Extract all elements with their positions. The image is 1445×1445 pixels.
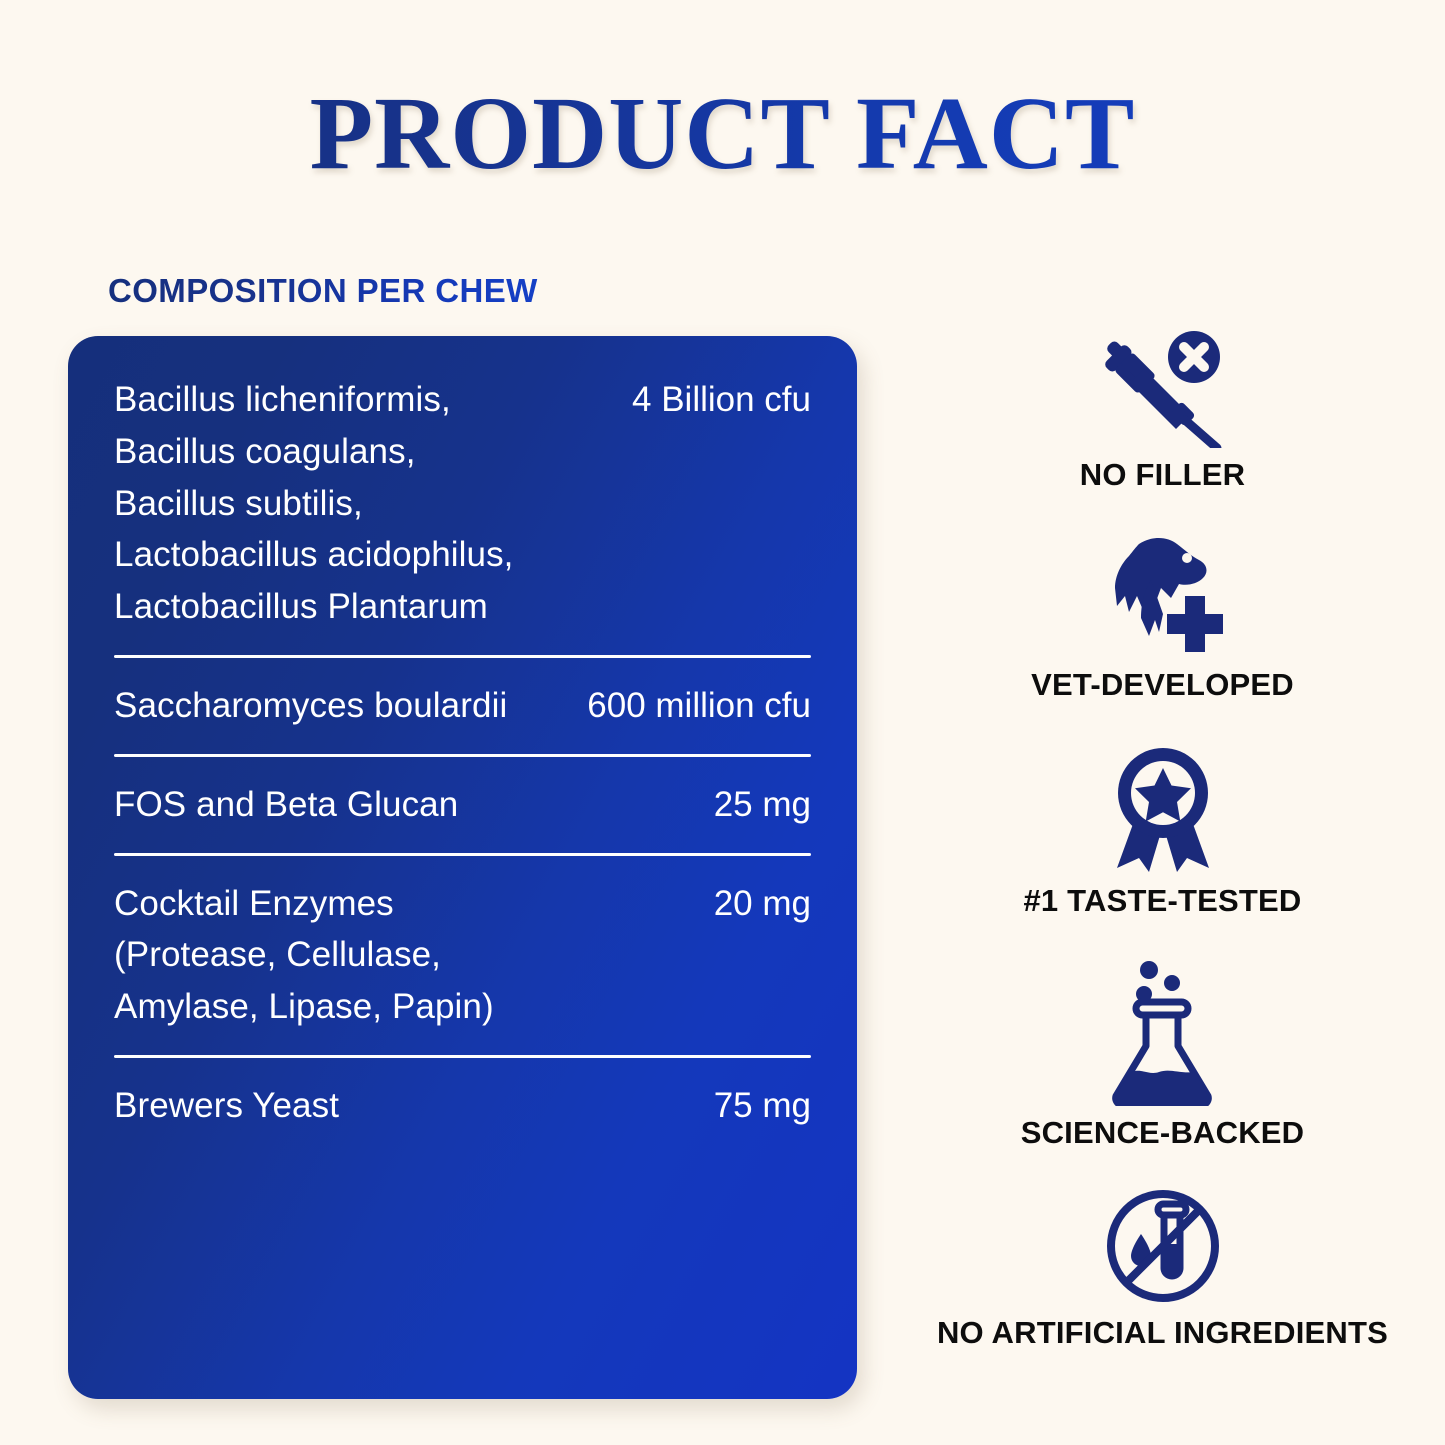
row-divider xyxy=(114,1055,811,1058)
ingredient-name: Bacillus licheniformis, Bacillus coagula… xyxy=(114,374,544,633)
table-row: Saccharomyces boulardii 600 million cfu xyxy=(114,680,811,732)
table-row: Cocktail Enzymes (Protease, Cellulase, A… xyxy=(114,878,811,1033)
syringe-no-icon xyxy=(1097,330,1229,448)
row-divider xyxy=(114,655,811,658)
row-divider xyxy=(114,853,811,856)
benefit-label: #1 TASTE-TESTED xyxy=(1023,883,1301,919)
ingredient-name: Brewers Yeast xyxy=(114,1080,544,1132)
benefit-label: NO FILLER xyxy=(1080,457,1245,493)
table-row: FOS and Beta Glucan 25 mg xyxy=(114,779,811,831)
ingredient-value: 4 Billion cfu xyxy=(632,374,811,426)
dog-medical-cross-icon xyxy=(1099,536,1227,658)
table-row: Bacillus licheniformis, Bacillus coagula… xyxy=(114,374,811,633)
ingredient-value: 25 mg xyxy=(714,779,811,831)
flask-icon xyxy=(1104,958,1222,1106)
benefit-label: NO ARTIFICIAL INGREDIENTS xyxy=(937,1315,1388,1351)
benefit-no-artificial-ingredients: NO ARTIFICIAL INGREDIENTS xyxy=(880,1186,1445,1391)
benefit-taste-tested: #1 TASTE-TESTED xyxy=(880,746,1445,958)
composition-card: Bacillus licheniformis, Bacillus coagula… xyxy=(68,336,857,1399)
ingredient-name: Saccharomyces boulardii xyxy=(114,680,544,732)
ingredient-value: 75 mg xyxy=(714,1080,811,1132)
ingredient-name: Cocktail Enzymes (Protease, Cellulase, A… xyxy=(114,878,544,1033)
table-row: Brewers Yeast 75 mg xyxy=(114,1080,811,1132)
no-test-tube-icon xyxy=(1103,1186,1223,1306)
benefit-vet-developed: VET-DEVELOPED xyxy=(880,536,1445,746)
ingredient-name: FOS and Beta Glucan xyxy=(114,779,544,831)
award-ribbon-star-icon xyxy=(1103,746,1223,874)
product-fact-page: PRODUCT FACT COMPOSITION PER CHEW Bacill… xyxy=(0,0,1445,1445)
benefit-label: SCIENCE-BACKED xyxy=(1021,1115,1305,1151)
row-divider xyxy=(114,754,811,757)
benefit-label: VET-DEVELOPED xyxy=(1031,667,1294,703)
benefit-no-filler: NO FILLER xyxy=(880,330,1445,536)
ingredient-value: 600 million cfu xyxy=(587,680,811,732)
benefit-science-backed: SCIENCE-BACKED xyxy=(880,958,1445,1186)
ingredient-value: 20 mg xyxy=(714,878,811,930)
benefits-list: NO FILLER VET-DEVELOPED xyxy=(880,330,1445,1415)
composition-heading: COMPOSITION PER CHEW xyxy=(108,272,538,310)
page-title: PRODUCT FACT xyxy=(0,78,1445,190)
